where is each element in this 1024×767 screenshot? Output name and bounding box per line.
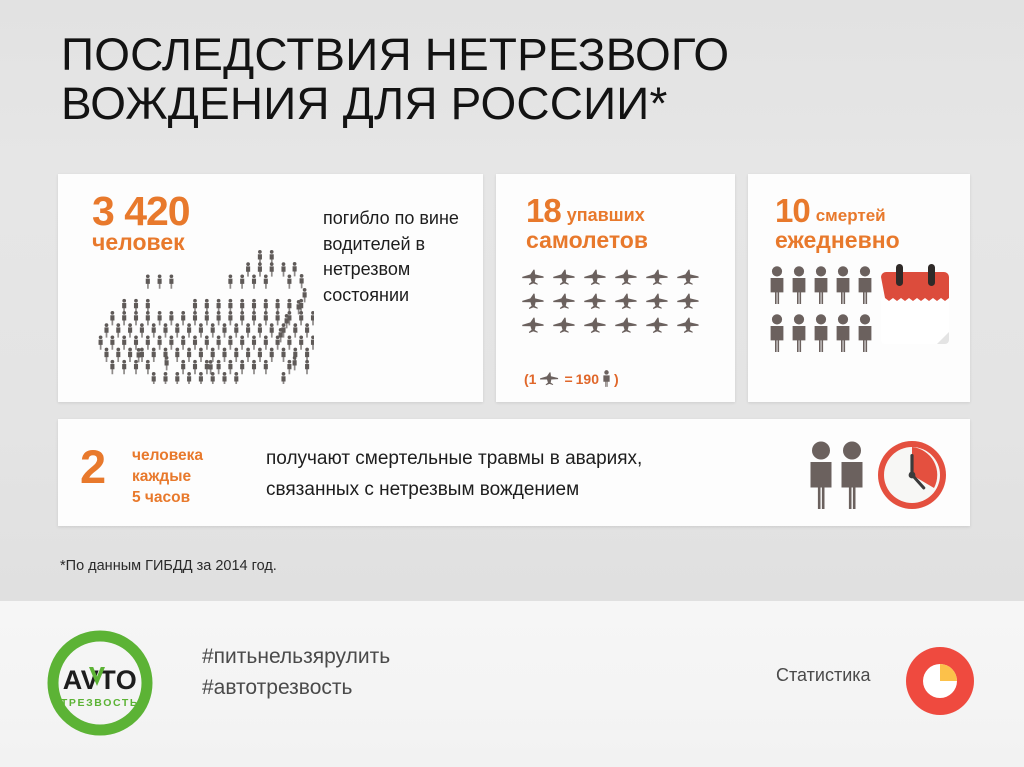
injuries-body-line-2: связанных с нетрезвым вождением: [266, 474, 896, 505]
person-icon: [857, 314, 873, 352]
person-icon: [769, 266, 785, 304]
airplane-icon: [614, 316, 640, 334]
airplane-icon: [583, 316, 609, 334]
footer: AVTO ТРЕЗВОСТЬ #питьнельзярулить #автотр…: [0, 601, 1024, 767]
daily-word-2: ежедневно: [775, 228, 970, 252]
injuries-icons: [808, 439, 948, 511]
airplane-icon: [521, 316, 547, 334]
airplane-icon: [552, 292, 578, 310]
planes-heading: 18упавших самолетов: [526, 194, 726, 252]
clock-icon: [876, 439, 948, 511]
person-icon: [835, 266, 851, 304]
plane-icon-row: [521, 268, 706, 286]
airplane-icon: [552, 316, 578, 334]
person-icon: [813, 266, 829, 304]
airplane-icon: [539, 371, 561, 386]
hashtag-2[interactable]: #автотрезвость: [202, 672, 390, 703]
planes-legend: (1 = 190 ): [524, 370, 619, 387]
injuries-number: 2: [80, 443, 105, 490]
panel-deaths: 3 420 человек погибло по вине водителей …: [58, 174, 483, 402]
airplane-icon: [676, 316, 702, 334]
person-icon: [769, 314, 785, 352]
airplane-icon: [614, 292, 640, 310]
injuries-body: получают смертельные травмы в авариях, с…: [266, 443, 896, 505]
plane-icon-row: [521, 316, 706, 334]
daily-word-1: смертей: [816, 206, 886, 225]
airplane-icon: [645, 268, 671, 286]
planes-word-2: самолетов: [526, 228, 726, 252]
airplane-icon: [614, 268, 640, 286]
daily-number: 10: [775, 192, 810, 229]
injuries-body-line-1: получают смертельные травмы в авариях,: [266, 443, 896, 474]
airplane-icon: [645, 292, 671, 310]
person-icon-grid: [769, 266, 879, 362]
logo-avtotrezvost[interactable]: AVTO ТРЕЗВОСТЬ: [44, 627, 156, 744]
deaths-description: погибло по вине водителей в нетрезвом со…: [323, 206, 483, 308]
person-icon: [791, 314, 807, 352]
deaths-number: 3 420: [92, 191, 190, 232]
daily-heading: 10смертей ежедневно: [775, 194, 970, 252]
planes-number: 18: [526, 192, 561, 229]
plane-icon-row: [521, 292, 706, 310]
airplane-icon: [552, 268, 578, 286]
panel-injuries: 2 человека каждые 5 часов получают смерт…: [58, 419, 970, 526]
injuries-line-3: 5 часов: [132, 487, 247, 508]
person-icon: [857, 266, 873, 304]
person-icon-row: [769, 266, 879, 304]
person-icon-row: [769, 314, 879, 352]
airplane-icon: [521, 268, 547, 286]
airplane-icon: [676, 292, 702, 310]
legend-prefix: (1: [524, 371, 536, 387]
legend-value: 190: [576, 371, 599, 387]
hashtags: #питьнельзярулить #автотрезвость: [202, 641, 390, 703]
legend-equals: =: [564, 371, 572, 387]
airplane-icon: [521, 292, 547, 310]
injuries-rate-lines: человека каждые 5 часов: [132, 445, 247, 508]
person-icon: [813, 314, 829, 352]
person-icon: [602, 370, 611, 387]
airplane-icon: [583, 292, 609, 310]
injuries-line-2: каждые: [132, 466, 247, 487]
airplane-icon: [583, 268, 609, 286]
person-icon: [808, 441, 834, 509]
infographic-root: ПОСЛЕДСТВИЯ НЕТРЕЗВОГО ВОЖДЕНИЯ ДЛЯ РОСС…: [0, 0, 1024, 767]
footnote: *По данным ГИБДД за 2014 год.: [60, 558, 277, 574]
plane-icon-grid: [521, 268, 706, 340]
panel-daily-deaths: 10смертей ежедневно: [748, 174, 970, 402]
russia-map-of-people-icon: [96, 244, 314, 384]
hashtag-1[interactable]: #питьнельзярулить: [202, 641, 390, 672]
panel-planes: 18упавших самолетов (1 = 190 ): [496, 174, 735, 402]
pie-chart-icon[interactable]: [906, 647, 974, 720]
logo-sub-text: ТРЕЗВОСТЬ: [61, 697, 139, 709]
person-icon: [839, 441, 865, 509]
statistics-label: Статистика: [776, 665, 871, 686]
legend-suffix: ): [614, 371, 619, 387]
injuries-line-1: человека: [132, 445, 247, 466]
page-title: ПОСЛЕДСТВИЯ НЕТРЕЗВОГО ВОЖДЕНИЯ ДЛЯ РОСС…: [61, 30, 857, 128]
planes-word-1: упавших: [567, 205, 645, 225]
airplane-icon: [645, 316, 671, 334]
person-icon: [791, 266, 807, 304]
calendar-icon: [877, 264, 955, 351]
airplane-icon: [676, 268, 702, 286]
person-icon: [835, 314, 851, 352]
